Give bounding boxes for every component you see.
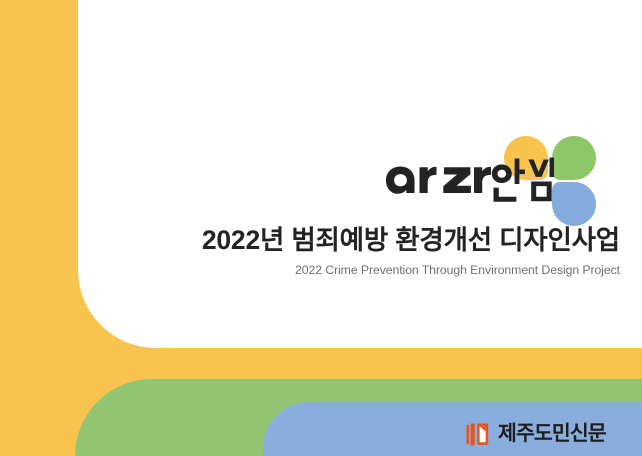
press-name: 제주도민신문: [498, 424, 606, 445]
page-subtitle: 2022 Crime Prevention Through Environmen…: [0, 263, 620, 278]
open-book-icon: [466, 422, 492, 447]
press-badge: 제주도민신문: [466, 419, 606, 449]
petal-bottom-right-icon: [552, 182, 596, 226]
brand-wordmark-icon: [386, 152, 554, 214]
brand-logo: [386, 134, 598, 218]
poster-canvas: 2022년 범죄예방 환경개선 디자인사업 2022 Crime Prevent…: [0, 0, 642, 456]
petal-top-right-icon: [552, 136, 596, 180]
title-block: 2022년 범죄예방 환경개선 디자인사업 2022 Crime Prevent…: [0, 224, 620, 278]
page-title: 2022년 범죄예방 환경개선 디자인사업: [0, 224, 620, 256]
